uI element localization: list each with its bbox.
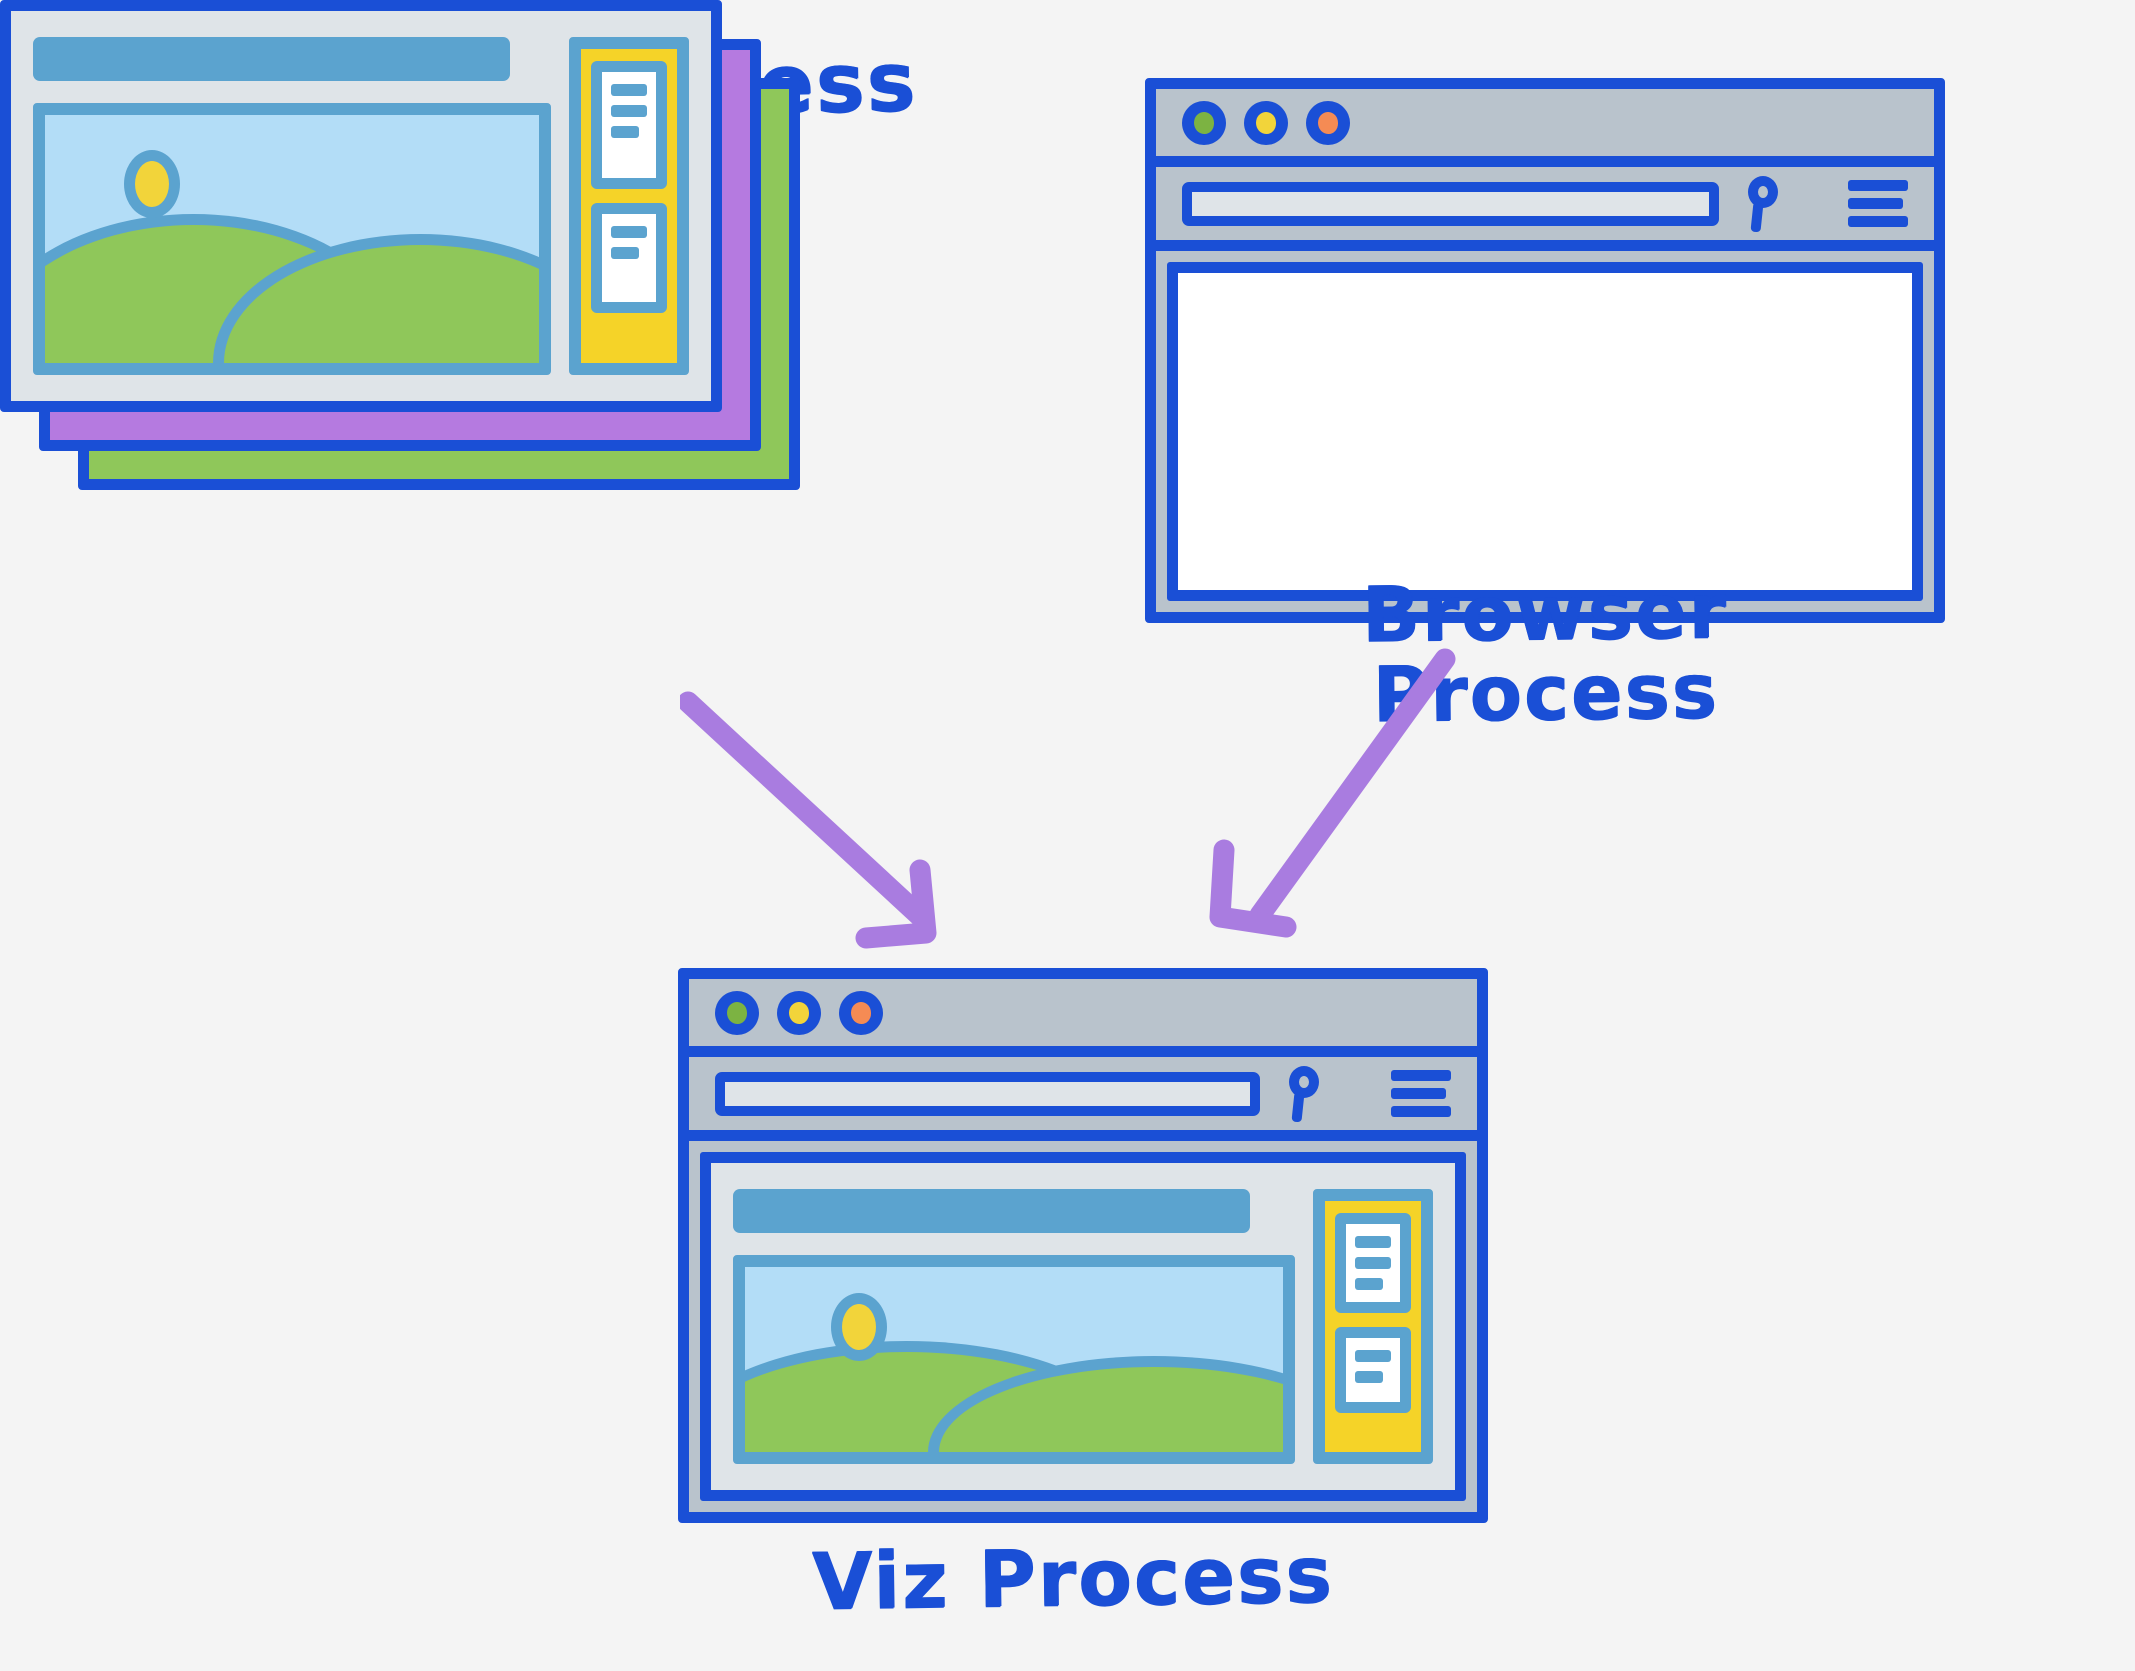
sun-icon [124,150,180,218]
viz-process-window[interactable] [678,968,1488,1523]
viz-toolbar [689,1057,1477,1141]
viz-page-main [733,1189,1295,1464]
card-text-line [1355,1236,1391,1248]
browser-toolbar [1156,167,1934,251]
sidebar-card-1[interactable] [1335,1213,1411,1313]
photo-placeholder [733,1255,1295,1464]
photo-placeholder [33,103,551,375]
card-text-line [611,105,647,117]
hamburger-menu-icon[interactable] [1848,180,1908,227]
traffic-light-orange-icon[interactable] [839,991,883,1035]
url-input[interactable] [1182,182,1719,226]
sidebar-card-1[interactable] [591,61,667,189]
browser-window-inner: Browser Process [1156,89,1934,612]
render-to-viz-arrow [680,690,1010,990]
sidebar-card-2[interactable] [591,203,667,313]
browser-title-bar [1156,89,1934,167]
browser-page-viewport: Browser Process [1167,262,1923,601]
viz-title-bar [689,979,1477,1057]
search-icon[interactable] [1280,1066,1326,1122]
render-window-front[interactable] [0,0,722,412]
viz-page-viewport [700,1152,1466,1501]
traffic-light-yellow-icon[interactable] [777,991,821,1035]
traffic-light-yellow-icon[interactable] [1244,101,1288,145]
card-text-line [1355,1371,1383,1383]
url-input[interactable] [715,1072,1260,1116]
page-title-bar [733,1189,1250,1233]
card-text-line [611,126,639,138]
browser-process-window[interactable]: Browser Process [1145,78,1945,623]
page-sidebar [569,37,689,375]
sidebar-card-2[interactable] [1335,1327,1411,1413]
render-page-main [33,37,551,375]
card-text-line [611,247,639,259]
browser-to-viz-arrow [1200,645,1500,965]
card-text-line [611,84,647,96]
diagram-canvas: Render Process [0,0,2135,1671]
card-text-line [1355,1278,1383,1290]
sun-icon [831,1293,887,1361]
card-text-line [1355,1257,1391,1269]
card-text-line [611,226,647,238]
browser-label-line-2: Process [1178,649,1913,736]
render-process-window-stack [0,0,800,490]
render-page-content [11,11,711,401]
browser-process-label: Browser Process [1177,569,1913,736]
page-title-bar [33,37,510,81]
traffic-light-green-icon[interactable] [715,991,759,1035]
viz-process-label: Viz Process [811,1536,1334,1623]
viz-window-inner [689,979,1477,1512]
traffic-light-orange-icon[interactable] [1306,101,1350,145]
viz-page-content [711,1163,1455,1490]
card-text-line [1355,1350,1391,1362]
traffic-light-green-icon[interactable] [1182,101,1226,145]
page-sidebar [1313,1189,1433,1464]
hamburger-menu-icon[interactable] [1391,1070,1451,1117]
search-icon[interactable] [1739,176,1785,232]
